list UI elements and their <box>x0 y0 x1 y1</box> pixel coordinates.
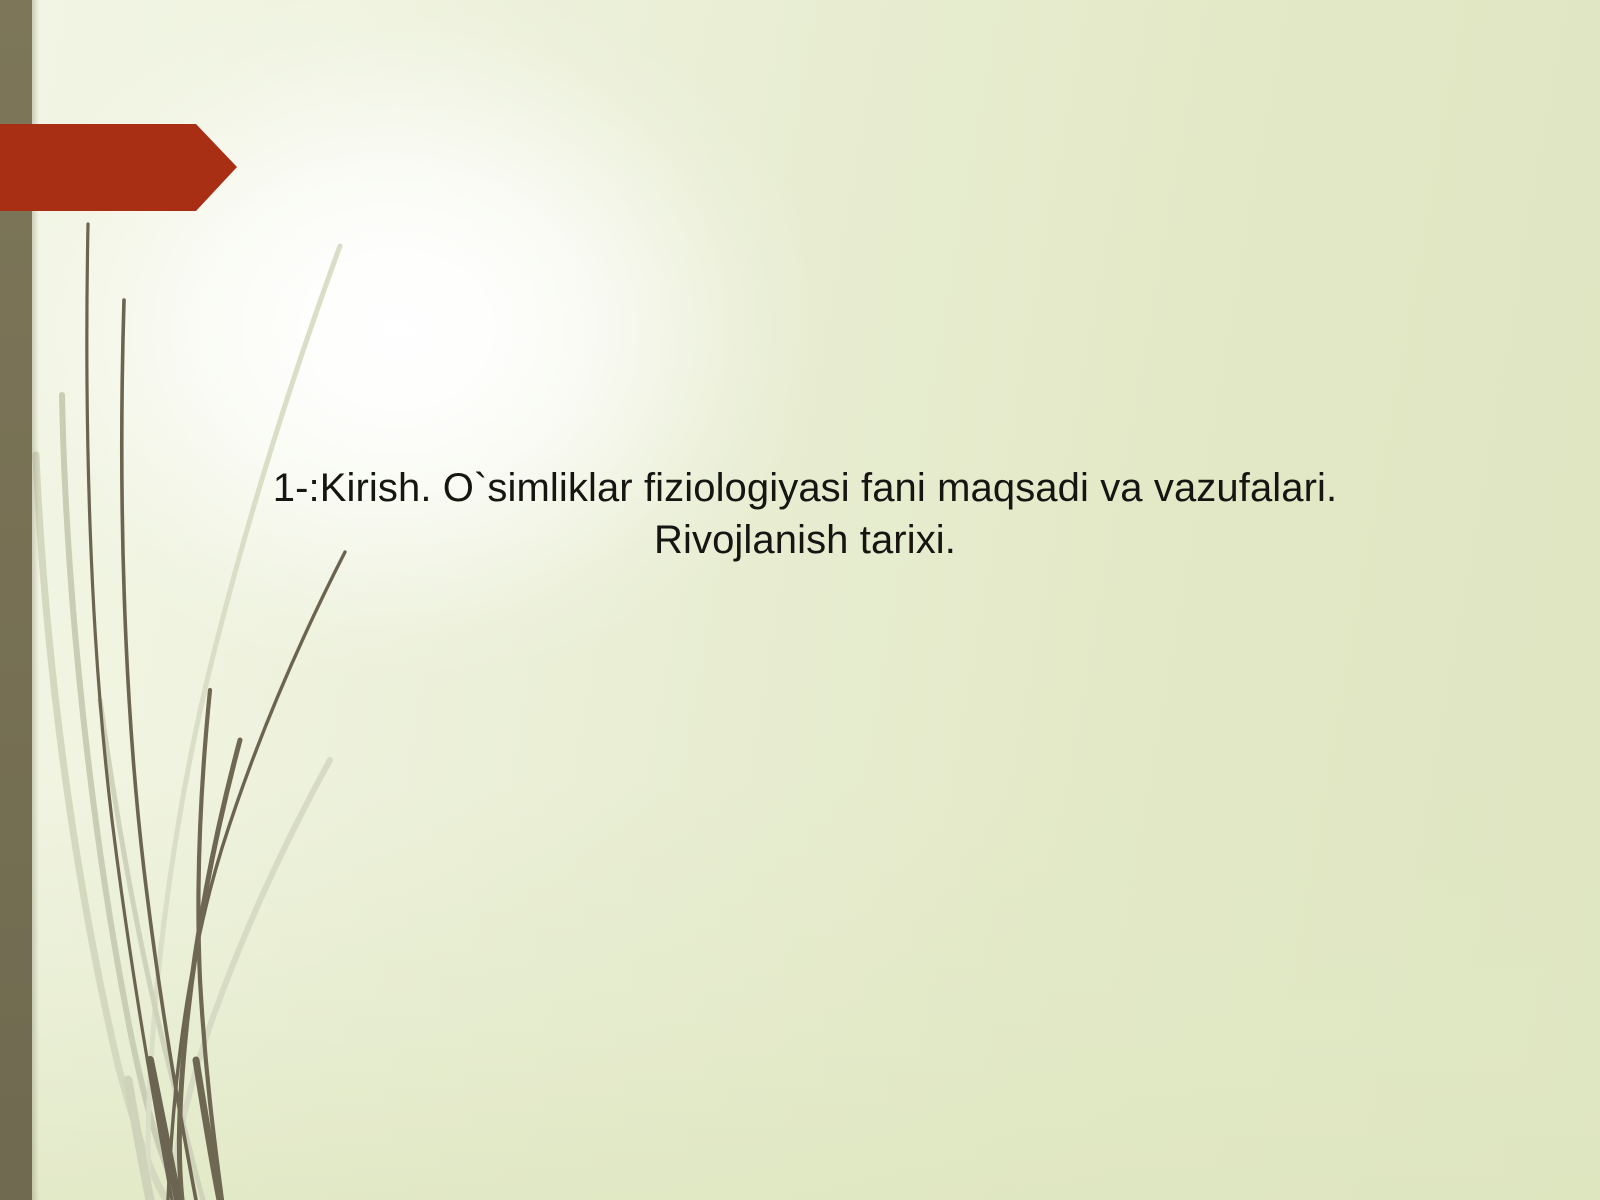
slide-title: 1-:Kirish. O`simliklar fiziologiyasi fan… <box>230 462 1380 566</box>
slide-title-line-1: 1-:Kirish. O`simliklar fiziologiyasi fan… <box>230 462 1380 514</box>
slide-title-line-2: Rivojlanish tarixi. <box>230 514 1380 566</box>
background-bottom-tint <box>0 780 1600 1200</box>
accent-chevron-banner <box>0 124 237 211</box>
presentation-slide: 1-:Kirish. O`simliklar fiziologiyasi fan… <box>0 0 1600 1200</box>
